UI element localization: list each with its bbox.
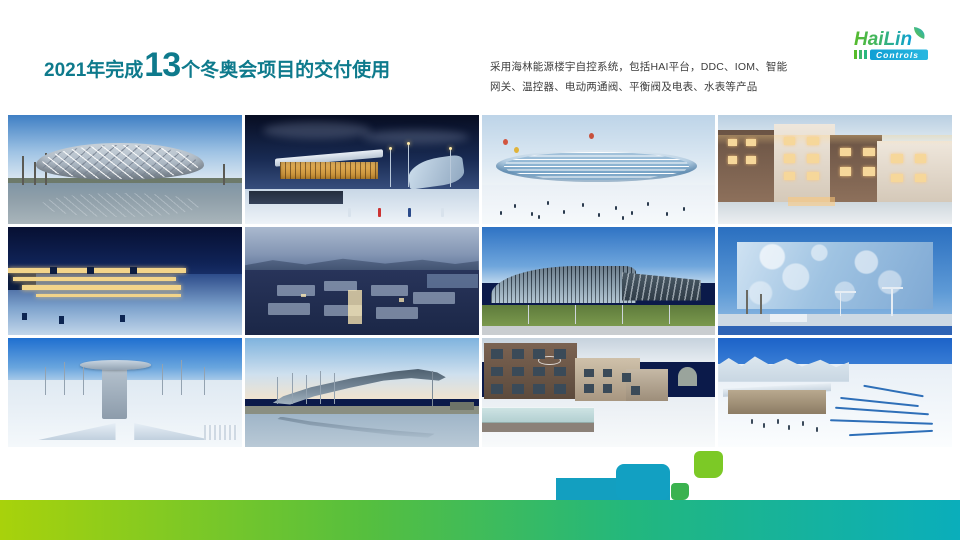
photo-glass-curved-arena[interactable] bbox=[482, 227, 716, 336]
photo-national-stadium-birds-nest[interactable] bbox=[8, 115, 242, 224]
logo-wordmark: HaiLin bbox=[854, 29, 912, 50]
photo-village-aerial-dusk[interactable] bbox=[245, 227, 479, 336]
logo-tagline: Controls bbox=[876, 50, 919, 60]
description-text: 采用海林能源楼宇自控系统，包括HAI平台，DDC、IOM、智能 网关、温控器、电… bbox=[490, 58, 840, 98]
slide-header: 2021年完成 13 个冬奥会项目的交付使用 采用海林能源楼宇自控系统，包括HA… bbox=[0, 0, 960, 112]
photo-big-air-shougang-snow[interactable] bbox=[8, 338, 242, 447]
decorative-green-square-small bbox=[671, 483, 689, 500]
photo-resort-hotel-building[interactable] bbox=[718, 115, 952, 224]
logo-svg: HaiLin Controls bbox=[852, 24, 948, 64]
photo-gallery-grid bbox=[8, 115, 952, 447]
decorative-green-square-large bbox=[694, 451, 723, 478]
photo-speed-skating-oval-ice-ribbon[interactable] bbox=[482, 115, 716, 224]
photo-big-air-shougang-reflection[interactable] bbox=[245, 338, 479, 447]
photo-olympic-village-apartments[interactable] bbox=[482, 338, 716, 447]
title-prefix: 2021年完成 bbox=[44, 61, 143, 80]
presentation-slide: 2021年完成 13 个冬奥会项目的交付使用 采用海林能源楼宇自控系统，包括HA… bbox=[0, 0, 960, 540]
hailin-controls-logo: HaiLin Controls bbox=[852, 24, 948, 64]
leaf-icon bbox=[914, 27, 925, 39]
footer-gradient-band bbox=[0, 500, 960, 540]
decorative-teal-square bbox=[616, 464, 670, 500]
description-line-2: 网关、温控器、电动两通阀、平衡阀及电表、水表等产品 bbox=[490, 78, 840, 98]
photo-cross-country-ski-center[interactable] bbox=[718, 338, 952, 447]
description-line-1: 采用海林能源楼宇自控系统，包括HAI平台，DDC、IOM、智能 bbox=[490, 58, 840, 78]
decorative-teal-shape bbox=[556, 464, 670, 500]
title-suffix: 个冬奥会项目的交付使用 bbox=[181, 61, 390, 80]
page-title: 2021年完成 13 个冬奥会项目的交付使用 bbox=[44, 48, 390, 82]
photo-illuminated-complex-night[interactable] bbox=[8, 227, 242, 336]
title-highlight-number: 13 bbox=[143, 48, 181, 82]
photo-water-cube-ice-cube[interactable] bbox=[718, 227, 952, 336]
photo-ski-venue-dusk[interactable] bbox=[245, 115, 479, 224]
